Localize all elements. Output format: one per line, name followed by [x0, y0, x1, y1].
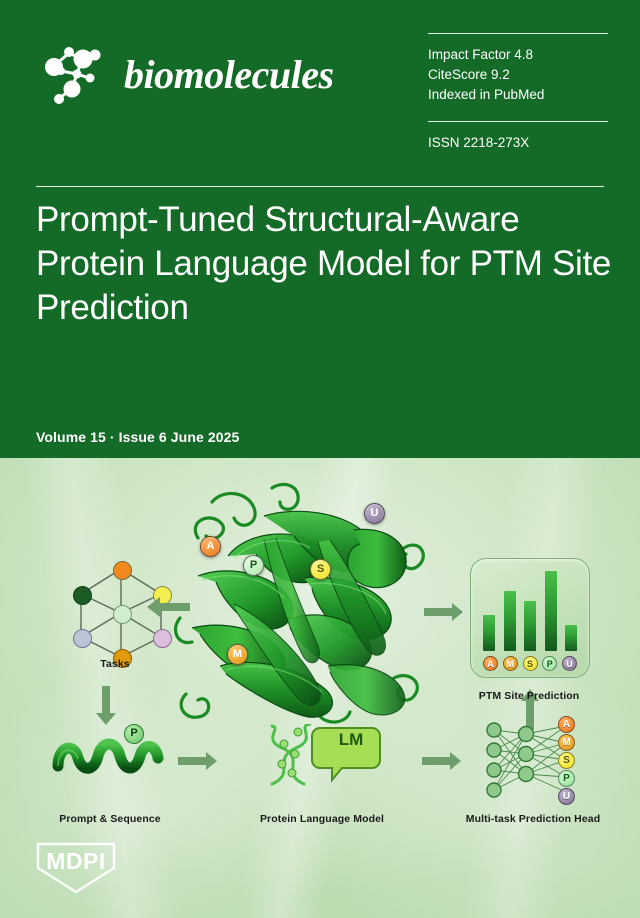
label-protein-language-model: Protein Language Model: [242, 813, 402, 825]
issn: ISSN 2218-273X: [428, 122, 608, 153]
bar-label-m: M: [503, 656, 518, 671]
protein-language-model-graphic: LM: [262, 724, 382, 786]
ptm-pin-u: U: [364, 503, 385, 524]
molecule-icon: [36, 38, 110, 112]
label-multitask-head: Multi-task Prediction Head: [438, 813, 628, 825]
metrics-divider-top: [428, 33, 608, 34]
head-output-m: M: [558, 734, 575, 751]
ptm-bar-chart: [483, 571, 577, 651]
citescore: CiteScore 9.2: [428, 65, 608, 85]
head-output-u: U: [558, 788, 575, 805]
bar-u: [565, 625, 577, 651]
tasks-node: [113, 605, 132, 624]
label-prompt-sequence: Prompt & Sequence: [38, 813, 182, 825]
tasks-node: [113, 561, 132, 580]
ptm-pin-a: A: [200, 536, 221, 557]
cover-header: biomolecules Impact Factor 4.8 CiteScore…: [0, 0, 640, 458]
metrics-divider-bottom: [428, 121, 608, 122]
volume-issue-line: Volume 15 · Issue 6 June 2025: [36, 429, 239, 445]
journal-metrics: Impact Factor 4.8 CiteScore 9.2 Indexed …: [428, 33, 608, 153]
bar-s: [524, 601, 536, 651]
ptm-prediction-panel: A M S P U: [470, 558, 590, 678]
tasks-node: [73, 629, 92, 648]
prompt-badge-p: P: [124, 724, 144, 744]
cover-artwork: Tasks: [0, 458, 640, 918]
lm-bubble-text: LM: [324, 730, 378, 750]
journal-cover: biomolecules Impact Factor 4.8 CiteScore…: [0, 0, 640, 918]
mdpi-logo: MDPI: [30, 842, 122, 896]
bar-label-a: A: [483, 656, 498, 671]
head-output-s: S: [558, 752, 575, 769]
protein-structure: A P U S M: [168, 478, 434, 728]
head-output-p: P: [558, 770, 575, 787]
title-divider: [36, 186, 604, 187]
neural-network-icon: [478, 720, 596, 800]
ptm-pin-p: P: [243, 555, 264, 576]
label-tasks: Tasks: [60, 658, 170, 670]
arrow-prompt-to-plm: [178, 751, 218, 771]
ptm-pin-s: S: [310, 559, 331, 580]
journal-title: biomolecules: [124, 55, 334, 95]
helix-icon: [50, 728, 170, 776]
tasks-node: [73, 586, 92, 605]
bar-m: [504, 591, 516, 651]
bar-label-s: S: [523, 656, 538, 671]
label-ptm-site-prediction: PTM Site Prediction: [460, 690, 598, 702]
indexing-status: Indexed in PubMed: [428, 85, 608, 105]
arrow-plm-to-head: [422, 751, 462, 771]
head-output-a: A: [558, 716, 575, 733]
protein-ribbon-illustration: [168, 478, 434, 728]
bar-a: [483, 615, 495, 651]
ptm-pin-m: M: [227, 644, 248, 665]
bar-label-p: P: [542, 656, 557, 671]
metrics-list: Impact Factor 4.8 CiteScore 9.2 Indexed …: [428, 34, 608, 105]
bar-label-u: U: [562, 656, 577, 671]
mdpi-wordmark: MDPI: [30, 848, 122, 875]
impact-factor: Impact Factor 4.8: [428, 45, 608, 65]
prompt-sequence-graphic: P: [50, 728, 170, 776]
ptm-bar-labels: A M S P U: [483, 656, 577, 671]
cover-article-title: Prompt-Tuned Structural-Aware Protein La…: [36, 198, 616, 330]
metrics-spacer: [428, 105, 608, 121]
bar-p: [545, 571, 557, 651]
multitask-head-graphic: A M S P U: [478, 720, 596, 800]
journal-brand: biomolecules: [36, 38, 334, 112]
arrow-down-to-prompt: [95, 686, 117, 726]
